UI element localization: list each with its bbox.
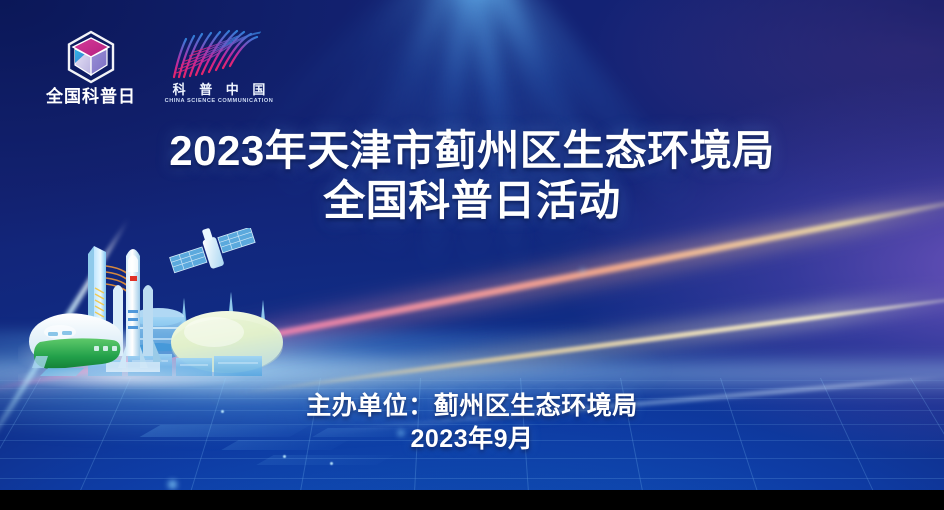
logo-csc-subtitle: CHINA SCIENCE COMMUNICATION (160, 99, 278, 105)
logo-csc-label: 科 普 中 国 (160, 83, 278, 96)
footer-line-2: 2023年9月 (0, 423, 944, 456)
sparkle-dot (330, 462, 333, 465)
sparkle-dot (580, 268, 585, 273)
science-technology-illustration (18, 228, 298, 396)
organizer-footer: 主办单位：蓟州区生态环境局 2023年9月 (0, 390, 944, 456)
page-title: 2023年天津市蓟州区生态环境局 全国科普日活动 (0, 126, 944, 226)
logo-national-science-day[interactable]: 全国科普日 (40, 29, 142, 105)
open-cube-icon (40, 29, 142, 85)
title-line-1: 2023年天津市蓟州区生态环境局 (169, 127, 774, 174)
logo-china-science-communication[interactable]: 科 普 中 国 CHINA SCIENCE COMMUNICATION (160, 25, 278, 105)
logo-national-science-day-label: 全国科普日 (40, 88, 142, 105)
sparkle-dot (168, 480, 177, 489)
satellite-icon (165, 228, 259, 280)
title-line-2: 全国科普日活动 (0, 176, 944, 226)
bottom-black-bar (0, 490, 944, 510)
gradient-wing-icon (160, 25, 278, 81)
decorative-panel (256, 455, 393, 465)
poster-canvas: 全国科普日 (0, 0, 944, 510)
footer-line-1: 主办单位：蓟州区生态环境局 (0, 390, 944, 423)
logo-group: 全国科普日 (40, 25, 278, 105)
flag-marker (130, 276, 137, 281)
